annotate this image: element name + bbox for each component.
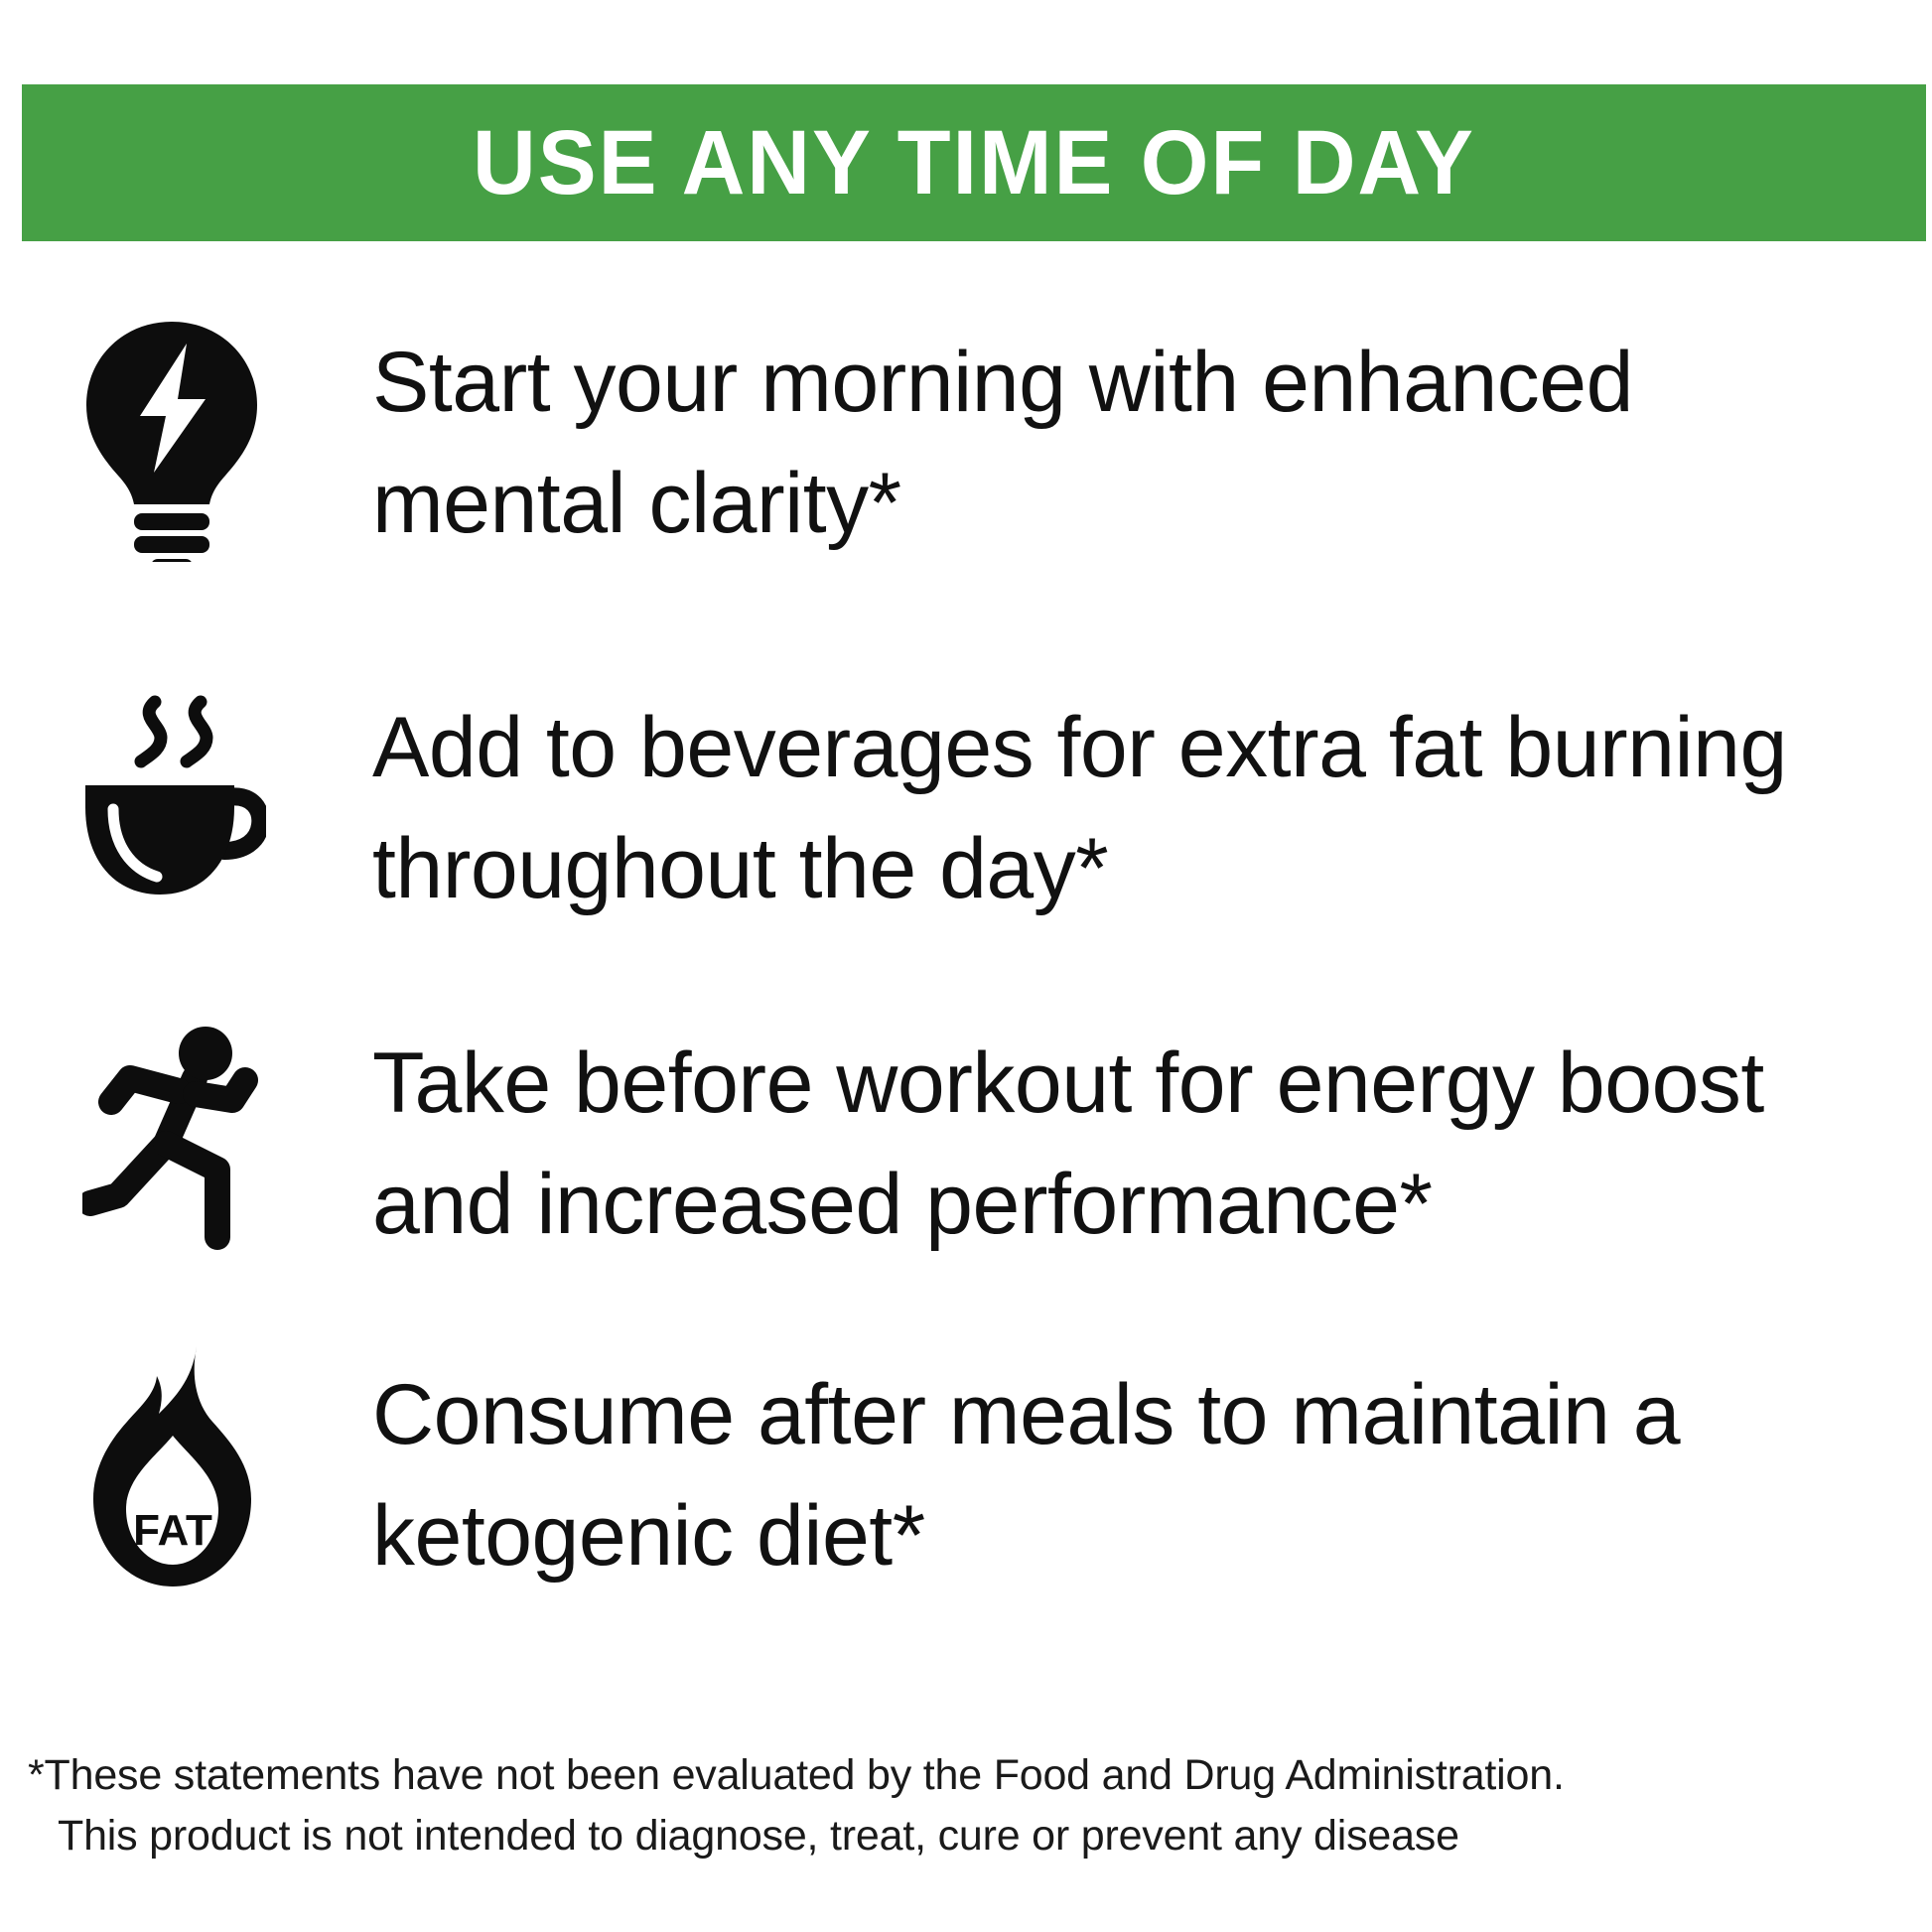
benefit-text: Add to beverages for extra fat burning t… bbox=[372, 687, 1906, 929]
header-banner: USE ANY TIME OF DAY bbox=[22, 84, 1926, 241]
benefit-list: Start your morning with enhanced mental … bbox=[0, 298, 1932, 1648]
running-person-icon bbox=[77, 1003, 266, 1271]
disclaimer-line-2: This product is not intended to diagnose… bbox=[28, 1806, 1894, 1866]
benefit-text: Consume after meals to maintain a ketoge… bbox=[372, 1354, 1906, 1596]
lightbulb-bolt-icon bbox=[77, 304, 266, 572]
benefit-text: Start your morning with enhanced mental … bbox=[372, 322, 1906, 564]
coffee-cup-steam-icon bbox=[77, 665, 266, 933]
list-item: FAT Consume after meals to maintain a ke… bbox=[0, 1311, 1932, 1648]
disclaimer-line-1: *These statements have not been evaluate… bbox=[28, 1745, 1894, 1806]
list-item: Start your morning with enhanced mental … bbox=[0, 298, 1932, 635]
flame-fat-icon: FAT bbox=[77, 1334, 266, 1602]
legal-disclaimer: *These statements have not been evaluate… bbox=[28, 1745, 1894, 1866]
flame-icon-label: FAT bbox=[133, 1506, 212, 1555]
benefit-text: Take before workout for energy boost and… bbox=[372, 1023, 1906, 1265]
list-item: Take before workout for energy boost and… bbox=[0, 973, 1932, 1311]
list-item: Add to beverages for extra fat burning t… bbox=[0, 635, 1932, 973]
page-title: USE ANY TIME OF DAY bbox=[473, 117, 1475, 208]
